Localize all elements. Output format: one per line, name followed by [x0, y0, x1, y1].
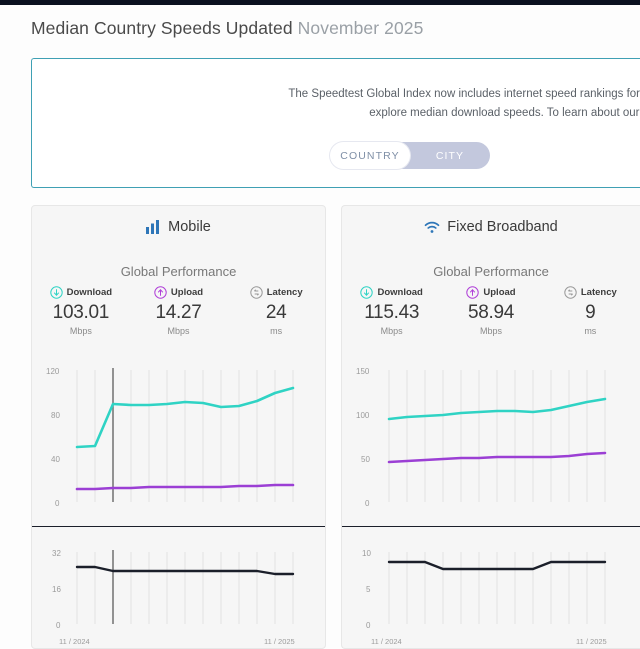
metric-latency: Latency 24 ms: [227, 286, 325, 336]
metric-download-value: 103.01: [53, 302, 109, 324]
card-mobile-metrics: Download 103.01 Mbps Upload 14.27 Mbps: [32, 286, 325, 336]
metric-download-label: Download: [377, 287, 422, 298]
metric-download-unit: Mbps: [70, 326, 92, 336]
ytick-mobile-lat-0: 32: [52, 549, 61, 558]
metric-download: Download 115.43 Mbps: [342, 286, 441, 336]
upload-circle-icon: [466, 286, 479, 299]
chart-mobile-speed-svg: 120 80 40 0: [32, 354, 326, 524]
metric-upload-head: Upload: [466, 286, 515, 299]
ytick-fixed-speed-0: 150: [356, 367, 370, 376]
page-title-main: Median Country Speeds Updated: [31, 18, 293, 38]
chart-fixed-latency[interactable]: 10 5 0: [342, 532, 640, 649]
bar-chart-icon: [146, 220, 161, 234]
chart-divider: [32, 526, 325, 527]
chart-mobile-latency[interactable]: 32 16 0: [32, 532, 325, 649]
download-circle-icon: [360, 286, 373, 299]
info-banner: The Speedtest Global Index now includes …: [31, 58, 640, 188]
info-banner-text: The Speedtest Global Index now includes …: [32, 85, 640, 123]
ytick-mobile-speed-1: 80: [51, 411, 60, 420]
ytick-mobile-lat-1: 16: [52, 585, 61, 594]
metric-latency-unit: ms: [584, 326, 596, 336]
xlabel-end: 11 / 2025: [264, 637, 295, 646]
ytick-fixed-lat-2: 0: [366, 621, 371, 630]
info-line-2-before: explore median download speeds. To learn…: [369, 107, 640, 119]
ytick-fixed-speed-2: 50: [361, 455, 370, 464]
xlabel-end: 11 / 2025: [576, 637, 607, 646]
card-fixed-section-title: Global Performance: [342, 264, 640, 279]
card-fixed-title: Fixed Broadband: [342, 219, 640, 235]
info-line-2: explore median download speeds. To learn…: [32, 104, 640, 123]
metric-download-head: Download: [50, 286, 112, 299]
latency-circle-icon: [250, 286, 263, 299]
info-line-1: The Speedtest Global Index now includes …: [32, 85, 640, 104]
page-root: Median Country Speeds Updated November 2…: [0, 0, 640, 649]
chart-fixed-latency-svg: 10 5 0: [342, 532, 640, 649]
metric-upload: Upload 14.27 Mbps: [130, 286, 228, 336]
card-mobile-section-title: Global Performance: [32, 264, 325, 279]
ytick-fixed-speed-3: 0: [365, 499, 370, 508]
page-title: Median Country Speeds Updated November 2…: [31, 18, 423, 39]
gridlines: [389, 370, 605, 502]
card-mobile: Mobile Global Performance Download 103.0…: [31, 205, 326, 649]
xlabel-start: 11 / 2024: [371, 637, 402, 646]
chart-divider: [342, 526, 640, 527]
ytick-fixed-lat-0: 10: [362, 549, 371, 558]
chart-mobile-latency-svg: 32 16 0: [32, 532, 326, 649]
ytick-mobile-lat-2: 0: [56, 621, 61, 630]
ytick-fixed-speed-1: 100: [356, 411, 370, 420]
metric-upload-value: 14.27: [155, 302, 201, 324]
card-mobile-title-label: Mobile: [168, 219, 211, 235]
card-mobile-title: Mobile: [32, 219, 325, 235]
ytick-mobile-speed-0: 120: [46, 367, 60, 376]
metric-latency-head: Latency: [250, 286, 303, 299]
metric-latency-value: 24: [266, 302, 287, 324]
metric-upload-value: 58.94: [468, 302, 514, 324]
latency-circle-icon: [564, 286, 577, 299]
gridlines: [77, 552, 293, 624]
browser-chrome-band: [0, 0, 640, 5]
metric-upload-head: Upload: [154, 286, 203, 299]
metric-download-value: 115.43: [364, 302, 419, 324]
card-fixed-title-label: Fixed Broadband: [447, 219, 557, 235]
metric-upload-label: Upload: [171, 287, 203, 298]
toggle-option-city[interactable]: CITY: [410, 142, 490, 169]
card-fixed-metrics: Download 115.43 Mbps Upload 58.94 Mbps: [342, 286, 640, 336]
xlabel-start: 11 / 2024: [59, 637, 90, 646]
metric-upload-label: Upload: [483, 287, 515, 298]
chart-fixed-speed-svg: 150 100 50 0: [342, 354, 640, 524]
ytick-mobile-speed-2: 40: [51, 455, 60, 464]
ytick-mobile-speed-3: 0: [55, 499, 60, 508]
metric-upload-unit: Mbps: [480, 326, 502, 336]
chart-mobile-speed[interactable]: 120 80 40 0: [32, 354, 325, 524]
toggle-option-country[interactable]: COUNTRY: [330, 142, 410, 169]
download-circle-icon: [50, 286, 63, 299]
wifi-icon: [424, 221, 440, 234]
ytick-fixed-lat-1: 5: [366, 585, 371, 594]
metric-download: Download 103.01 Mbps: [32, 286, 130, 336]
metric-latency-unit: ms: [270, 326, 282, 336]
gridlines: [77, 370, 293, 502]
upload-circle-icon: [154, 286, 167, 299]
metric-latency-label: Latency: [581, 287, 617, 298]
metric-latency-value: 9: [585, 302, 595, 324]
metric-latency-head: Latency: [564, 286, 617, 299]
page-title-date: November 2025: [298, 18, 424, 38]
metric-latency: Latency 9 ms: [541, 286, 640, 336]
metric-download-label: Download: [67, 287, 112, 298]
metric-upload-unit: Mbps: [168, 326, 190, 336]
metric-upload: Upload 58.94 Mbps: [441, 286, 540, 336]
country-city-toggle[interactable]: COUNTRY CITY: [330, 142, 490, 169]
card-fixed-broadband: Fixed Broadband Global Performance Downl…: [341, 205, 640, 649]
chart-fixed-speed[interactable]: 150 100 50 0: [342, 354, 640, 524]
metric-download-head: Download: [360, 286, 422, 299]
metric-latency-label: Latency: [267, 287, 303, 298]
metric-download-unit: Mbps: [381, 326, 403, 336]
